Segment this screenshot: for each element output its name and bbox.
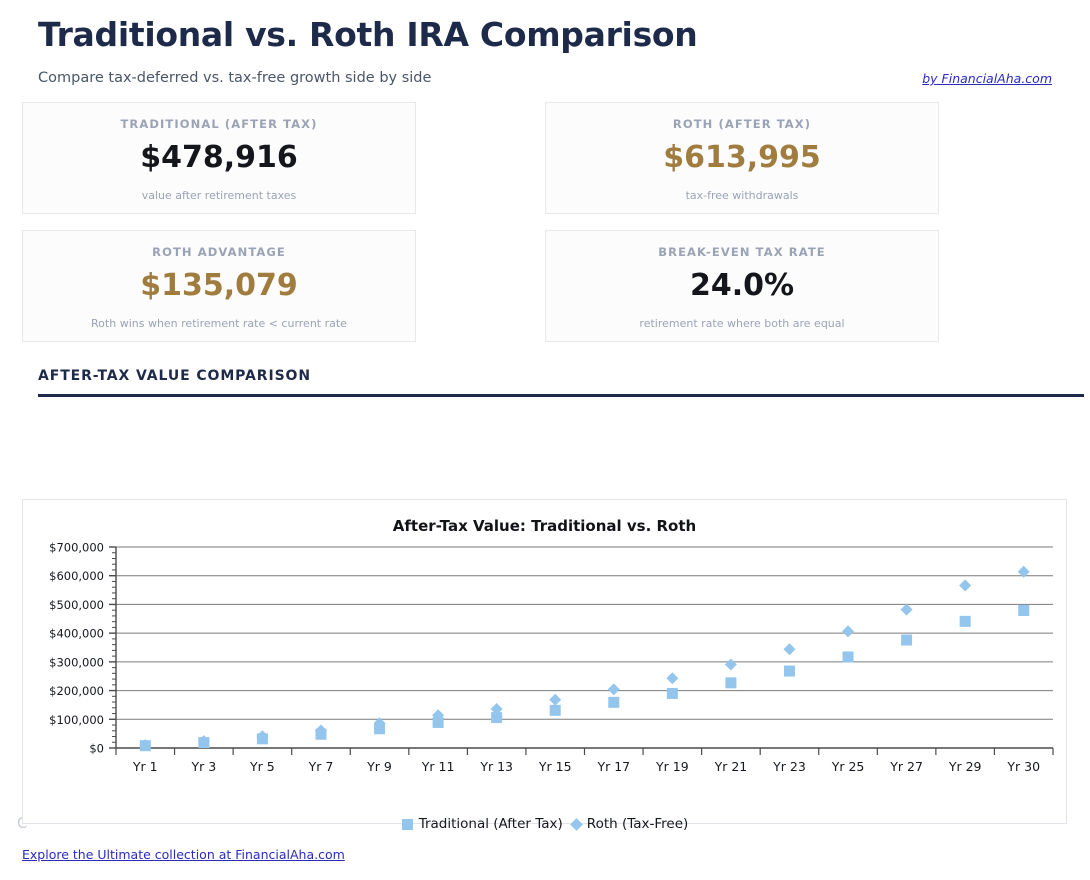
svg-text:$100,000: $100,000 [49,713,104,727]
svg-text:Yr 25: Yr 25 [831,759,865,774]
kpi-value: $135,079 [33,271,405,301]
byline-link[interactable]: by FinancialAha.com [922,71,1052,86]
svg-text:$200,000: $200,000 [49,684,104,698]
section-divider [38,394,1084,397]
svg-text:$600,000: $600,000 [49,569,104,583]
section-after-tax-value-comparison: AFTER-TAX VALUE COMPARISON [38,368,1068,397]
svg-text:Yr 15: Yr 15 [538,759,572,774]
chart-legend: Traditional (After Tax) Roth (Tax-Free) [0,816,1090,832]
svg-text:Yr 9: Yr 9 [366,759,392,774]
svg-text:Yr 17: Yr 17 [596,759,630,774]
section-title: AFTER-TAX VALUE COMPARISON [38,368,1068,384]
svg-text:Yr 27: Yr 27 [889,759,923,774]
legend-label: Roth (Tax-Free) [587,816,689,832]
svg-text:Yr 5: Yr 5 [249,759,275,774]
svg-text:$400,000: $400,000 [49,627,104,641]
svg-text:$300,000: $300,000 [49,655,104,669]
svg-text:Yr 1: Yr 1 [132,759,158,774]
kpi-label: BREAK-EVEN TAX RATE [556,245,928,259]
svg-text:$0: $0 [89,742,104,756]
footer-link[interactable]: Explore the Ultimate collection at Finan… [22,847,345,862]
kpi-label: TRADITIONAL (AFTER TAX) [33,117,405,131]
legend-item-traditional[interactable]: Traditional (After Tax) [402,816,563,832]
svg-text:Yr 11: Yr 11 [421,759,455,774]
svg-text:Yr 30: Yr 30 [1006,759,1040,774]
chart-title: After-Tax Value: Traditional vs. Roth [23,517,1066,535]
page-root: Traditional vs. Roth IRA Comparison Comp… [0,16,1090,880]
svg-text:Yr 23: Yr 23 [772,759,806,774]
kpi-grid-gap [416,230,545,342]
chart-plot-area: $0$100,000$200,000$300,000$400,000$500,0… [23,535,1066,797]
legend-diamond-icon [570,818,583,831]
svg-text:Yr 3: Yr 3 [190,759,216,774]
svg-text:Yr 19: Yr 19 [655,759,689,774]
legend-item-roth[interactable]: Roth (Tax-Free) [572,816,689,832]
kpi-grid: TRADITIONAL (AFTER TAX) $478,916 value a… [22,102,1068,342]
kpi-label: ROTH ADVANTAGE [33,245,405,259]
svg-text:$500,000: $500,000 [49,598,104,612]
svg-text:Yr 13: Yr 13 [479,759,513,774]
chart-panel: After-Tax Value: Traditional vs. Roth $0… [22,499,1067,824]
subtitle-row: Compare tax-deferred vs. tax-free growth… [38,70,1052,86]
scatter-plot-svg: $0$100,000$200,000$300,000$400,000$500,0… [23,535,1066,797]
kpi-card-roth-advantage: ROTH ADVANTAGE $135,079 Roth wins when r… [22,230,416,342]
kpi-value: 24.0% [556,271,928,301]
page-subtitle: Compare tax-deferred vs. tax-free growth… [38,70,431,86]
kpi-value: $613,995 [556,143,928,173]
kpi-card-break-even-tax-rate: BREAK-EVEN TAX RATE 24.0% retirement rat… [545,230,939,342]
kpi-subtext: value after retirement taxes [33,189,405,202]
kpi-grid-gap [416,102,545,214]
page-title: Traditional vs. Roth IRA Comparison [38,16,1068,54]
kpi-card-roth-after-tax: ROTH (AFTER TAX) $613,995 tax-free withd… [545,102,939,214]
kpi-subtext: Roth wins when retirement rate < current… [33,317,405,330]
kpi-card-traditional-after-tax: TRADITIONAL (AFTER TAX) $478,916 value a… [22,102,416,214]
kpi-subtext: retirement rate where both are equal [556,317,928,330]
svg-text:Yr 7: Yr 7 [308,759,334,774]
svg-text:$700,000: $700,000 [49,541,104,555]
legend-square-icon [402,819,413,830]
svg-text:Yr 29: Yr 29 [948,759,982,774]
kpi-subtext: tax-free withdrawals [556,189,928,202]
svg-text:Yr 21: Yr 21 [714,759,748,774]
legend-label: Traditional (After Tax) [419,816,563,832]
kpi-value: $478,916 [33,143,405,173]
kpi-label: ROTH (AFTER TAX) [556,117,928,131]
